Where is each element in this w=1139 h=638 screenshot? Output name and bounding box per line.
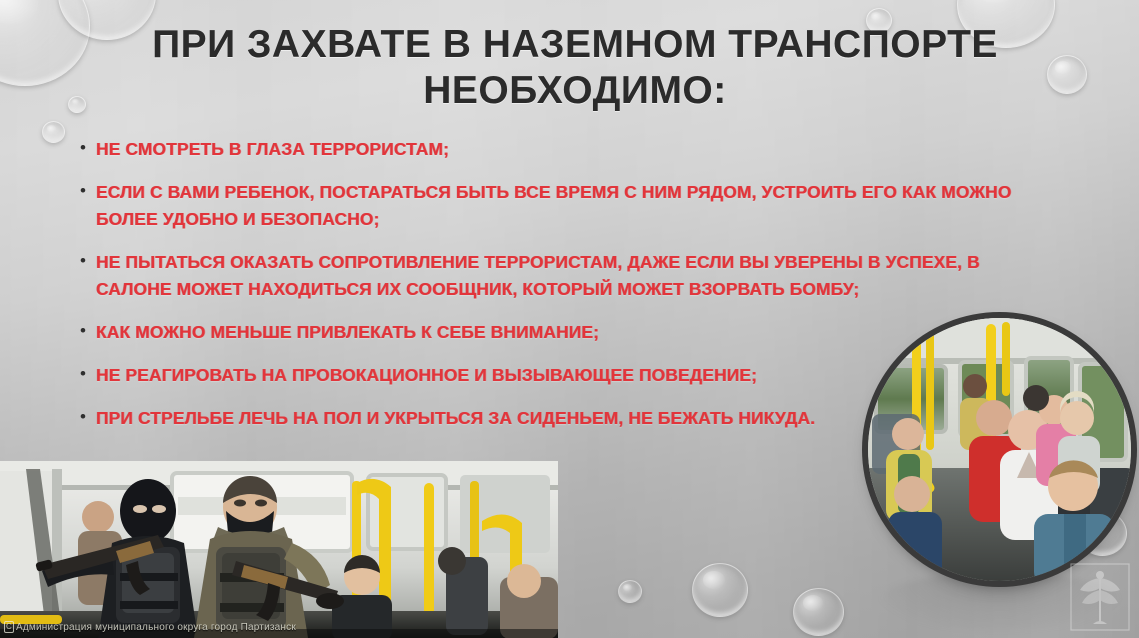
list-item-label: НЕ ПЫТАТЬСЯ ОКАЗАТЬ СОПРОТИВЛЕНИЕ ТЕРРОР…	[96, 249, 1025, 303]
list-item: • НЕ РЕАГИРОВАТЬ НА ПРОВОКАЦИОННОЕ И ВЫЗ…	[80, 362, 1025, 389]
bullet-dot-icon: •	[80, 319, 96, 343]
bullet-dot-icon: •	[80, 362, 96, 386]
list-item: • НЕ ПЫТАТЬСЯ ОКАЗАТЬ СОПРОТИВЛЕНИЕ ТЕРР…	[80, 249, 1025, 303]
bubble-decoration	[618, 580, 642, 603]
bullet-dot-icon: •	[80, 179, 96, 203]
list-item: • КАК МОЖНО МЕНЬШЕ ПРИВЛЕКАТЬ К СЕБЕ ВНИ…	[80, 319, 1025, 346]
list-item-label: ПРИ СТРЕЛЬБЕ ЛЕЧЬ НА ПОЛ И УКРЫТЬСЯ ЗА С…	[96, 405, 1025, 432]
bubble-decoration	[692, 563, 748, 617]
page-title: ПРИ ЗАХВАТЕ В НАЗЕМНОМ ТРАНСПОРТЕ НЕОБХО…	[110, 22, 1040, 114]
copyright-watermark: CАдминистрация муниципального округа гор…	[4, 621, 296, 634]
bullet-dot-icon: •	[80, 405, 96, 429]
bubble-decoration	[0, 0, 90, 86]
bullet-list: • НЕ СМОТРЕТЬ В ГЛАЗА ТЕРРОРИСТАМ; • ЕСЛ…	[80, 136, 1025, 448]
armed-masked-men-in-transport-photo: CАдминистрация муниципального округа гор…	[0, 461, 558, 638]
list-item-label: НЕ СМОТРЕТЬ В ГЛАЗА ТЕРРОРИСТАМ;	[96, 136, 1025, 163]
bullet-dot-icon: •	[80, 136, 96, 160]
bubble-decoration	[42, 121, 65, 143]
list-item: • НЕ СМОТРЕТЬ В ГЛАЗА ТЕРРОРИСТАМ;	[80, 136, 1025, 163]
partizansk-coat-of-arms-emblem	[1069, 562, 1131, 632]
list-item: • ПРИ СТРЕЛЬБЕ ЛЕЧЬ НА ПОЛ И УКРЫТЬСЯ ЗА…	[80, 405, 1025, 432]
list-item: • ЕСЛИ С ВАМИ РЕБЕНОК, ПОСТАРАТЬСЯ БЫТЬ …	[80, 179, 1025, 233]
list-item-label: КАК МОЖНО МЕНЬШЕ ПРИВЛЕКАТЬ К СЕБЕ ВНИМА…	[96, 319, 1025, 346]
copyright-icon: C	[4, 621, 14, 633]
bubble-decoration	[68, 96, 86, 113]
copyright-watermark-text: Администрация муниципального округа горо…	[16, 622, 296, 633]
bubble-decoration	[793, 588, 844, 636]
bubble-decoration	[1047, 55, 1087, 94]
bullet-dot-icon: •	[80, 249, 96, 273]
presentation-slide: ПРИ ЗАХВАТЕ В НАЗЕМНОМ ТРАНСПОРТЕ НЕОБХО…	[0, 0, 1139, 638]
list-item-label: ЕСЛИ С ВАМИ РЕБЕНОК, ПОСТАРАТЬСЯ БЫТЬ ВС…	[96, 179, 1025, 233]
list-item-label: НЕ РЕАГИРОВАТЬ НА ПРОВОКАЦИОННОЕ И ВЫЗЫВ…	[96, 362, 1025, 389]
